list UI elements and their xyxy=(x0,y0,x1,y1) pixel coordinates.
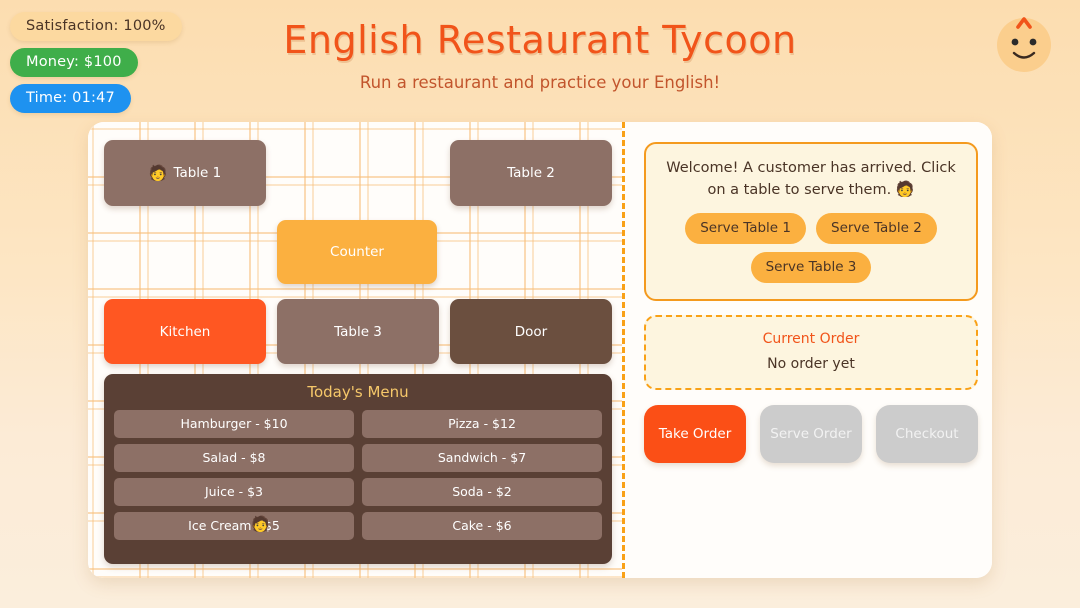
floor-object-label: Counter xyxy=(330,244,384,260)
current-order-title: Current Order xyxy=(656,331,966,347)
floor-object-table-2[interactable]: Table 2 xyxy=(450,140,612,206)
floor-object-label: Door xyxy=(515,324,547,340)
floor-object-label: Kitchen xyxy=(160,324,211,340)
current-order-panel: Current Order No order yet xyxy=(644,315,978,390)
serve-table-1-button[interactable]: Serve Table 1 xyxy=(685,213,806,244)
floor-object-door[interactable]: Door xyxy=(450,299,612,364)
customer-icon: 🧑 xyxy=(251,515,270,533)
menu-item[interactable]: Juice - $3 xyxy=(114,478,354,506)
current-order-body: No order yet xyxy=(656,356,966,372)
satisfaction-badge: Satisfaction: 100% xyxy=(10,12,182,41)
menu-item[interactable]: Salad - $8 xyxy=(114,444,354,472)
serve-order-button[interactable]: Serve Order xyxy=(760,405,862,463)
money-badge: Money: $100 xyxy=(10,48,138,77)
floor-object-table-1[interactable]: 🧑 Table 1 xyxy=(104,140,266,206)
floor-object-kitchen[interactable]: Kitchen xyxy=(104,299,266,364)
avatar[interactable] xyxy=(991,12,1057,78)
menu-panel: Today's Menu Hamburger - $10 Pizza - $12… xyxy=(104,374,612,564)
floor-object-label: Table 2 xyxy=(507,165,555,181)
dialogue-message: Welcome! A customer has arrived. Click o… xyxy=(662,158,960,201)
floor-object-label: Table 3 xyxy=(334,324,382,340)
customer-icon: 🧑 xyxy=(149,166,168,181)
hud-stats: Satisfaction: 100% Money: $100 Time: 01:… xyxy=(10,12,182,113)
control-panel: Welcome! A customer has arrived. Click o… xyxy=(622,122,992,578)
game-card: 🧑 Table 1 Table 2 Counter Kitchen Table … xyxy=(88,122,992,578)
customer-icon: 🧑 xyxy=(896,180,915,198)
menu-item[interactable]: Hamburger - $10 xyxy=(114,410,354,438)
serve-buttons: Serve Table 1 Serve Table 2 Serve Table … xyxy=(662,213,960,283)
smiley-face-icon xyxy=(991,12,1057,78)
menu-item[interactable]: Cake - $6 xyxy=(362,512,602,540)
restaurant-floor: 🧑 Table 1 Table 2 Counter Kitchen Table … xyxy=(88,122,622,578)
serve-table-2-button[interactable]: Serve Table 2 xyxy=(816,213,937,244)
dialogue-box: Welcome! A customer has arrived. Click o… xyxy=(644,142,978,301)
panel-divider xyxy=(622,122,625,578)
floor-object-counter[interactable]: Counter xyxy=(277,220,437,284)
menu-item[interactable]: Sandwich - $7 xyxy=(362,444,602,472)
menu-title: Today's Menu xyxy=(114,383,602,401)
action-buttons: Take Order Serve Order Checkout xyxy=(644,405,978,463)
menu-item[interactable]: Ice Cream - $5 🧑 xyxy=(114,512,354,540)
serve-table-3-button[interactable]: Serve Table 3 xyxy=(751,252,872,283)
take-order-button[interactable]: Take Order xyxy=(644,405,746,463)
menu-item[interactable]: Pizza - $12 xyxy=(362,410,602,438)
menu-item[interactable]: Soda - $2 xyxy=(362,478,602,506)
time-badge: Time: 01:47 xyxy=(10,84,131,113)
floor-object-table-3[interactable]: Table 3 xyxy=(277,299,439,364)
menu-grid: Hamburger - $10 Pizza - $12 Salad - $8 S… xyxy=(114,410,602,540)
floor-object-label: Table 1 xyxy=(173,165,221,181)
checkout-button[interactable]: Checkout xyxy=(876,405,978,463)
